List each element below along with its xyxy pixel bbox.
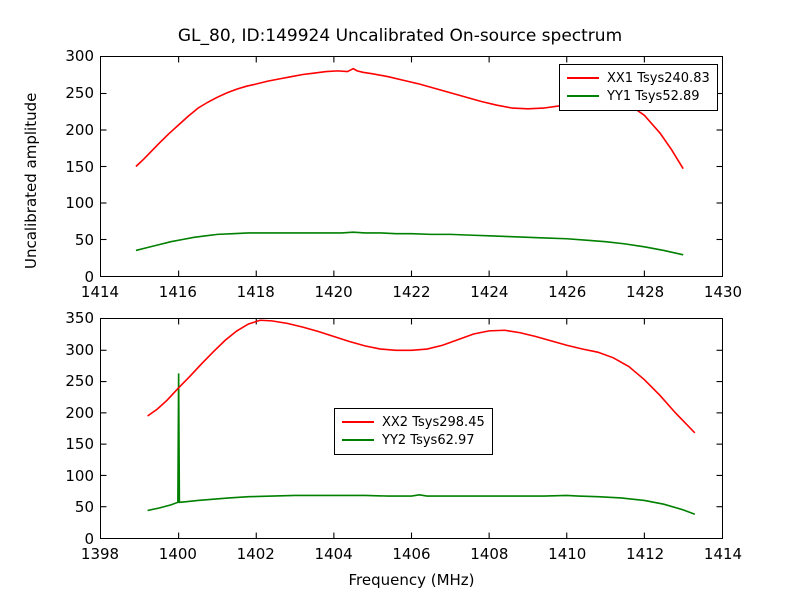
x-tick-label: 1410 — [532, 545, 602, 563]
legend-item: YY1 Tsys52.89 — [567, 87, 710, 105]
y-tick-label: 100 — [4, 194, 94, 212]
y-tick-label: 150 — [4, 435, 94, 453]
x-tick-label: 1422 — [377, 283, 447, 301]
x-tick-label: 1414 — [688, 545, 758, 563]
legend-label-yy2: YY2 Tsys62.97 — [382, 433, 475, 448]
y-tick-label: 200 — [4, 121, 94, 139]
x-tick-label: 1408 — [454, 545, 524, 563]
y-tick-label: 150 — [4, 158, 94, 176]
x-tick-label: 1420 — [299, 283, 369, 301]
legend-swatch-yy1 — [567, 95, 599, 97]
x-tick-label: 1430 — [688, 283, 758, 301]
x-tick-label: 1400 — [143, 545, 213, 563]
y-tick-label: 300 — [4, 47, 94, 65]
y-tick-label: 250 — [4, 84, 94, 102]
x-tick-label: 1424 — [454, 283, 524, 301]
y-tick-label: 50 — [4, 231, 94, 249]
x-tick-label: 1402 — [221, 545, 291, 563]
legend-item: XX1 Tsys240.83 — [567, 69, 710, 87]
x-tick-label: 1412 — [610, 545, 680, 563]
page-title: GL_80, ID:149924 Uncalibrated On-source … — [0, 26, 800, 46]
legend-label-xx2: XX2 Tsys298.45 — [382, 415, 485, 430]
x-tick-label: 1418 — [221, 283, 291, 301]
x-tick-label: 1414 — [65, 283, 135, 301]
legend-swatch-xx1 — [567, 77, 599, 79]
x-tick-label: 1404 — [299, 545, 369, 563]
legend-item: XX2 Tsys298.45 — [342, 413, 485, 431]
series-line-yy1 — [136, 232, 683, 255]
y-tick-label: 200 — [4, 404, 94, 422]
y-tick-label: 350 — [4, 309, 94, 327]
spectrum-figure: GL_80, ID:149924 Uncalibrated On-source … — [0, 0, 800, 600]
legend-item: YY2 Tsys62.97 — [342, 431, 485, 449]
y-tick-label: 250 — [4, 372, 94, 390]
x-tick-label: 1428 — [610, 283, 680, 301]
legend-swatch-yy2 — [342, 439, 374, 441]
legend-label-yy1: YY1 Tsys52.89 — [607, 89, 700, 104]
x-tick-label: 1398 — [65, 545, 135, 563]
legend-bottom: XX2 Tsys298.45 YY2 Tsys62.97 — [334, 408, 493, 455]
x-tick-label: 1416 — [143, 283, 213, 301]
legend-swatch-xx2 — [342, 421, 374, 423]
y-tick-label: 300 — [4, 341, 94, 359]
y-tick-label: 50 — [4, 498, 94, 516]
legend-label-xx1: XX1 Tsys240.83 — [607, 71, 710, 86]
x-axis-label: Frequency (MHz) — [100, 571, 723, 589]
x-tick-label: 1426 — [532, 283, 602, 301]
x-tick-label: 1406 — [377, 545, 447, 563]
legend-top: XX1 Tsys240.83 YY1 Tsys52.89 — [559, 64, 718, 111]
y-tick-label: 100 — [4, 467, 94, 485]
